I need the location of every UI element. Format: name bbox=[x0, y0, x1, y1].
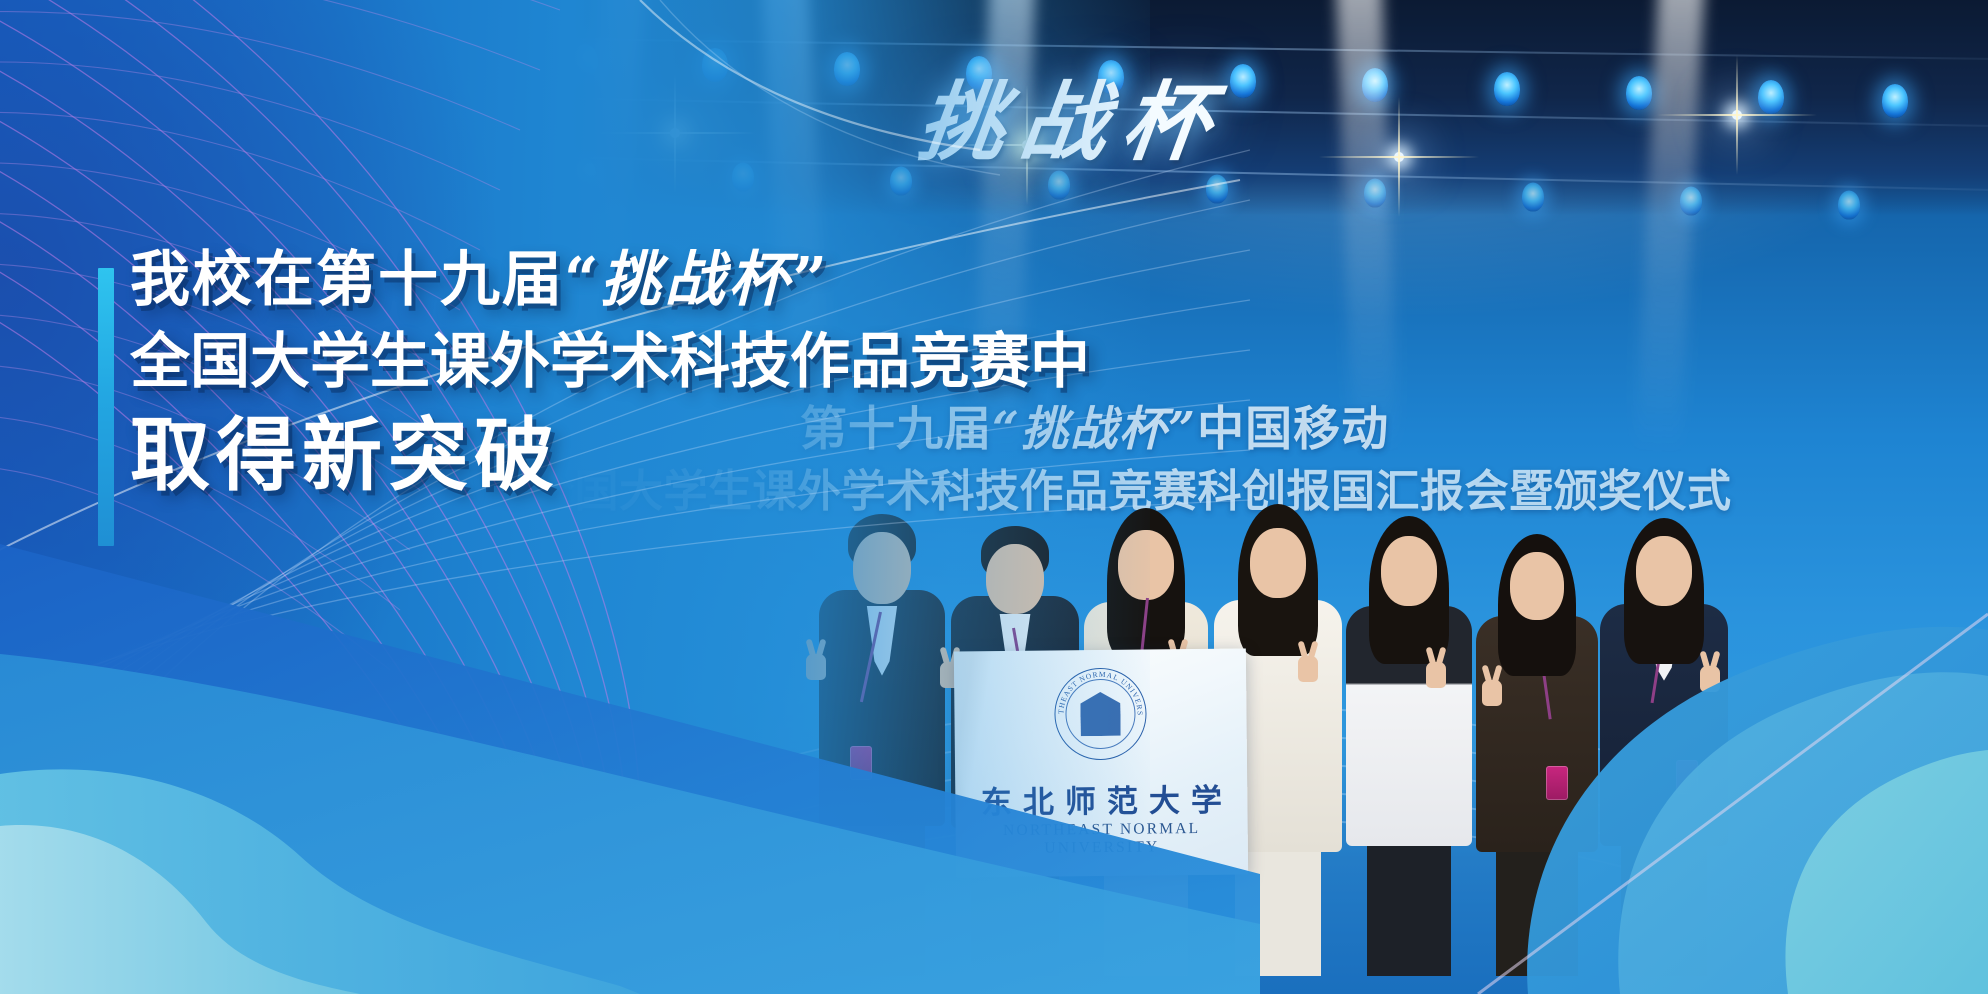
svg-text:NORTHEAST NORMAL UNIVERSITY: NORTHEAST NORMAL UNIVERSITY bbox=[1055, 669, 1145, 718]
headline-line-2: 全国大学生课外学术科技作品竞赛中 bbox=[130, 332, 1090, 392]
right-wave-decoration bbox=[1228, 434, 1988, 994]
headline-line-1: 我校在第十九届“挑战杯” bbox=[130, 250, 1090, 310]
headline-line1-prefix: 我校在第十九届 bbox=[130, 246, 564, 313]
university-flag: NORTHEAST NORMAL UNIVERSITY 东北师范大学 NORTH… bbox=[954, 648, 1248, 877]
headline-block: 我校在第十九届“挑战杯” 全国大学生课外学术科技作品竞赛中 取得新突破 bbox=[130, 250, 1090, 496]
flag-chinese-name: 东北师范大学 bbox=[955, 774, 1247, 822]
emblem-ring-text: NORTHEAST NORMAL UNIVERSITY bbox=[1055, 669, 1146, 760]
headline-quote-close: ” bbox=[793, 245, 830, 315]
banner-root: 挑战杯 第十九届“挑战杯”中国移动 全国大学生课外学术科技作品竞赛科创报国汇报会… bbox=[0, 0, 1988, 994]
headline-calligraphy: 挑战杯 bbox=[601, 245, 793, 315]
headline-quote-open: “ bbox=[564, 245, 601, 315]
stage-calligraphy-title: 挑战杯 bbox=[912, 52, 1233, 177]
headline-accent-bar bbox=[98, 268, 114, 546]
person-1 bbox=[816, 490, 948, 976]
headline-line-3: 取得新突破 bbox=[130, 416, 1090, 496]
flag-english-name: NORTHEAST NORMAL UNIVERSITY bbox=[956, 819, 1248, 858]
university-emblem-icon: NORTHEAST NORMAL UNIVERSITY bbox=[1054, 668, 1147, 761]
